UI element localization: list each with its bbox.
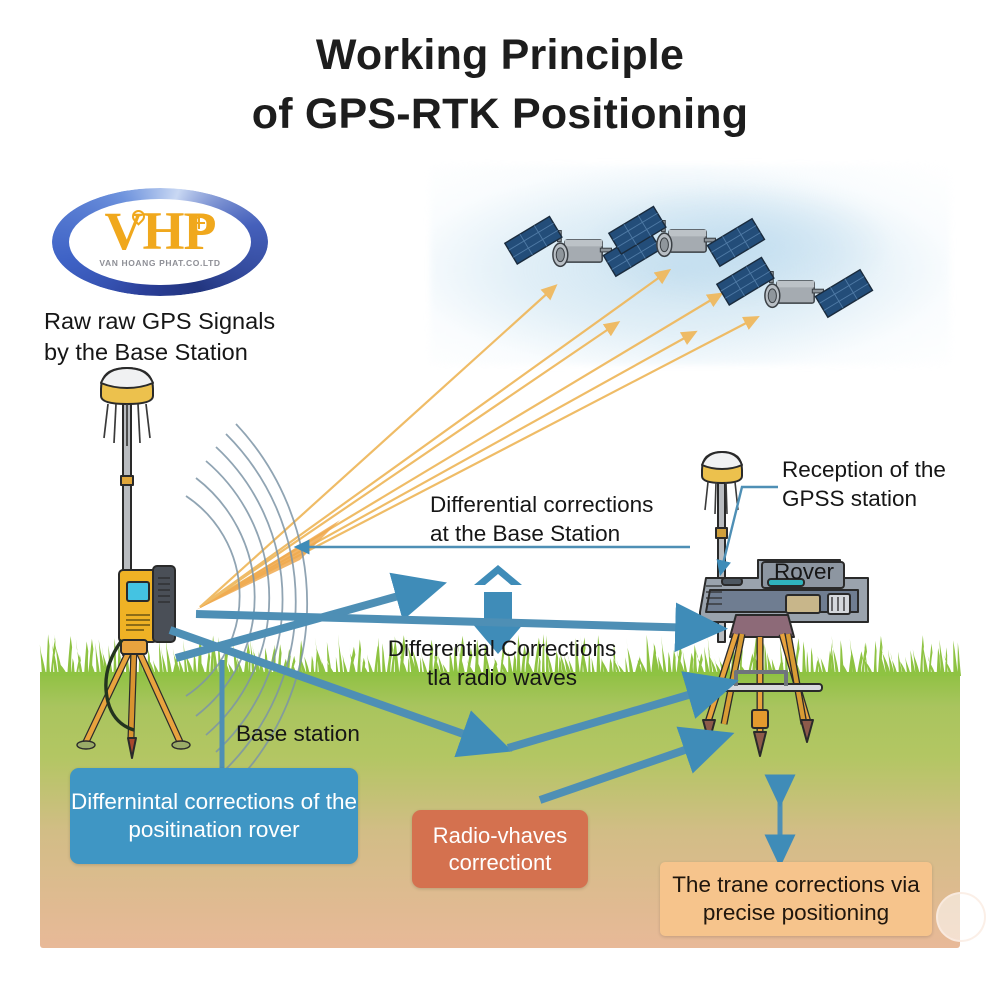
title-line-1: Working Principle [0,26,1000,85]
logo-subtitle: VAN HOANG PHAT.CO.LTD [52,258,268,268]
company-logo: VHP VAN HOANG PHAT.CO.LTD [52,188,268,296]
page-title: Working Principle of GPS-RTK Positioning [0,26,1000,145]
label-base-station: Base station [236,719,360,748]
label-rover: Rover [774,557,834,586]
callout-red: Radio-vhaves correctiont [412,810,588,888]
sky-haze [430,165,950,365]
chevron-up-icon [474,565,522,585]
watermark-circle-icon [936,892,986,942]
satellite-icon-3 [717,257,873,317]
diagram-canvas: Working Principle of GPS-RTK Positioning… [0,0,1000,1000]
label-raw-signals: Raw raw GPS Signals by the Base Station [44,306,275,367]
title-line-2: of GPS-RTK Positioning [0,85,1000,144]
satellite-icon-1 [505,216,661,276]
satellite-icon-2 [609,206,765,266]
sky-haze-secondary [590,185,890,305]
logo-mark: VHP [52,200,268,262]
label-reception: Reception of the GPSS station [782,455,946,514]
callout-blue: Differnintal corrections of the positina… [70,768,358,864]
label-diff-radio: Differential Corrections tla radio waves [374,634,630,693]
callout-orange: The trane corrections via precise positi… [660,862,932,936]
label-diff-at-base: Differential corrections at the Base Sta… [430,490,653,549]
